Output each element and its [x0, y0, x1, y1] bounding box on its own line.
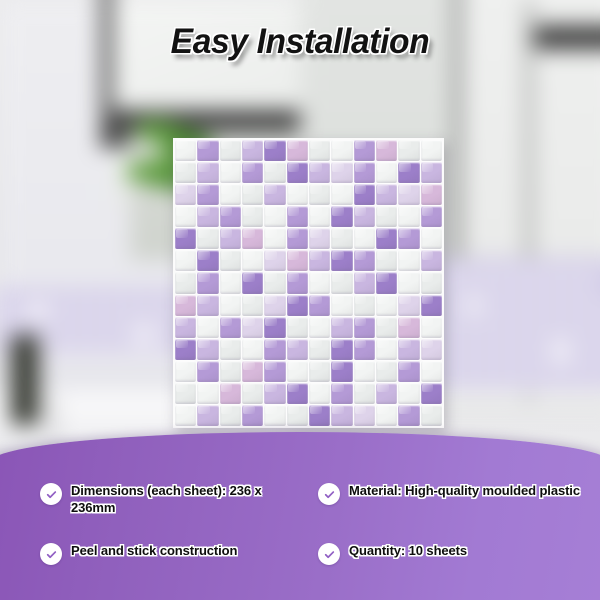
mosaic-tile — [197, 140, 218, 161]
mosaic-tile — [331, 162, 352, 183]
mosaic-tile — [354, 162, 375, 183]
mosaic-tile — [197, 228, 218, 249]
mosaic-tile — [398, 162, 419, 183]
mosaic-tile — [398, 228, 419, 249]
mosaic-tile — [331, 361, 352, 382]
mosaic-tile — [220, 140, 241, 161]
mosaic-tile — [421, 206, 442, 227]
mosaic-tile-sheet — [173, 138, 444, 428]
mosaic-tile — [287, 339, 308, 360]
feature-item-dimensions: Dimensions (each sheet): 236 x 236mm — [40, 482, 292, 517]
mosaic-tile — [287, 361, 308, 382]
mosaic-tile — [242, 140, 263, 161]
mosaic-tile — [354, 140, 375, 161]
mosaic-tile — [197, 206, 218, 227]
mosaic-tile — [376, 339, 397, 360]
feature-banner: Dimensions (each sheet): 236 x 236mm Pee… — [0, 432, 600, 600]
mosaic-tile — [264, 140, 285, 161]
mosaic-tile — [175, 272, 196, 293]
mosaic-tile — [242, 250, 263, 271]
mosaic-tile — [220, 162, 241, 183]
mosaic-tile — [242, 272, 263, 293]
mosaic-tile — [242, 405, 263, 426]
mosaic-tile — [287, 206, 308, 227]
feature-item-quantity: Quantity: 10 sheets — [318, 542, 583, 565]
mosaic-tile — [331, 184, 352, 205]
mosaic-tile — [421, 317, 442, 338]
mosaic-tile — [287, 140, 308, 161]
mosaic-tile — [309, 317, 330, 338]
mosaic-tile — [398, 383, 419, 404]
mosaic-tile — [376, 405, 397, 426]
mosaic-tile — [376, 361, 397, 382]
mosaic-tile — [175, 184, 196, 205]
mosaic-tile — [287, 184, 308, 205]
mosaic-tile — [220, 272, 241, 293]
feature-item-construction: Peel and stick construction — [40, 542, 292, 565]
mosaic-tile — [264, 295, 285, 316]
mosaic-tile — [175, 361, 196, 382]
mosaic-tile — [220, 295, 241, 316]
mosaic-tile — [309, 383, 330, 404]
mosaic-tile — [331, 295, 352, 316]
mosaic-tile — [220, 339, 241, 360]
mosaic-tile — [242, 361, 263, 382]
background-dispenser-bottle — [10, 335, 40, 425]
mosaic-tile — [264, 184, 285, 205]
mosaic-tile — [421, 140, 442, 161]
feature-label: Material: High-quality moulded plastic — [349, 482, 580, 499]
mosaic-tile — [175, 405, 196, 426]
mosaic-tile — [197, 162, 218, 183]
mosaic-tile — [354, 361, 375, 382]
mosaic-tile — [398, 250, 419, 271]
mosaic-tile — [421, 361, 442, 382]
mosaic-tile — [264, 339, 285, 360]
mosaic-tile — [175, 162, 196, 183]
mosaic-tile — [287, 250, 308, 271]
mosaic-tile — [197, 295, 218, 316]
mosaic-tile — [376, 162, 397, 183]
mosaic-tile — [264, 317, 285, 338]
mosaic-tile — [398, 184, 419, 205]
mosaic-tile — [309, 162, 330, 183]
mosaic-tile — [175, 317, 196, 338]
mosaic-tile — [287, 383, 308, 404]
mosaic-tile — [331, 339, 352, 360]
mosaic-tile — [197, 317, 218, 338]
mosaic-tile — [421, 228, 442, 249]
feature-banner-content: Dimensions (each sheet): 236 x 236mm Pee… — [0, 432, 600, 600]
background-backsplash-right — [430, 258, 600, 393]
mosaic-tile — [220, 228, 241, 249]
product-feature-poster: Easy Installation Dimensions (each sheet… — [0, 0, 600, 600]
mosaic-tile — [309, 250, 330, 271]
mosaic-tile — [376, 228, 397, 249]
mosaic-tile — [242, 206, 263, 227]
mosaic-tile — [197, 361, 218, 382]
mosaic-tile — [376, 206, 397, 227]
mosaic-tile — [376, 140, 397, 161]
mosaic-tile — [354, 206, 375, 227]
mosaic-tile — [376, 250, 397, 271]
mosaic-tile — [309, 361, 330, 382]
mosaic-tile — [242, 317, 263, 338]
mosaic-tile — [331, 272, 352, 293]
mosaic-tile — [220, 184, 241, 205]
mosaic-tile — [309, 272, 330, 293]
mosaic-tile — [421, 162, 442, 183]
mosaic-tile — [331, 405, 352, 426]
mosaic-tile — [309, 184, 330, 205]
mosaic-tile — [287, 317, 308, 338]
mosaic-tile — [287, 295, 308, 316]
mosaic-tile — [220, 383, 241, 404]
mosaic-tile — [309, 206, 330, 227]
mosaic-tile — [421, 272, 442, 293]
mosaic-tile — [220, 250, 241, 271]
mosaic-tile — [331, 206, 352, 227]
mosaic-tile — [398, 405, 419, 426]
mosaic-tile — [242, 184, 263, 205]
feature-label: Peel and stick construction — [71, 542, 237, 559]
mosaic-tile — [287, 162, 308, 183]
mosaic-tile — [220, 206, 241, 227]
mosaic-tile — [197, 383, 218, 404]
mosaic-tile — [398, 295, 419, 316]
mosaic-tile — [197, 250, 218, 271]
mosaic-tile — [242, 295, 263, 316]
mosaic-tile — [421, 405, 442, 426]
mosaic-tile — [354, 272, 375, 293]
mosaic-tile — [197, 405, 218, 426]
mosaic-tile — [242, 339, 263, 360]
mosaic-tile — [376, 295, 397, 316]
feature-label: Quantity: 10 sheets — [349, 542, 467, 559]
mosaic-tile — [175, 206, 196, 227]
mosaic-tile — [309, 140, 330, 161]
mosaic-tile — [264, 361, 285, 382]
mosaic-tile — [175, 250, 196, 271]
mosaic-tile — [242, 228, 263, 249]
check-circle-icon — [318, 483, 340, 505]
mosaic-tile — [376, 272, 397, 293]
mosaic-tile — [264, 272, 285, 293]
mosaic-tile — [264, 206, 285, 227]
mosaic-tile — [175, 228, 196, 249]
mosaic-tile — [197, 272, 218, 293]
mosaic-tile — [175, 339, 196, 360]
mosaic-tile — [331, 250, 352, 271]
mosaic-tile — [354, 184, 375, 205]
feature-label: Dimensions (each sheet): 236 x 236mm — [71, 482, 292, 517]
page-title: Easy Installation — [12, 22, 588, 62]
mosaic-tile — [309, 228, 330, 249]
mosaic-tile — [421, 184, 442, 205]
mosaic-tile — [331, 317, 352, 338]
mosaic-tile — [264, 228, 285, 249]
mosaic-tile — [354, 339, 375, 360]
mosaic-tile — [175, 383, 196, 404]
mosaic-tile — [264, 162, 285, 183]
mosaic-tile — [421, 250, 442, 271]
check-circle-icon — [40, 483, 62, 505]
mosaic-tile — [376, 383, 397, 404]
mosaic-tile — [197, 184, 218, 205]
mosaic-tile — [354, 405, 375, 426]
mosaic-tile — [220, 317, 241, 338]
mosaic-tile — [398, 361, 419, 382]
feature-item-material: Material: High-quality moulded plastic — [318, 482, 583, 505]
mosaic-tile — [175, 295, 196, 316]
mosaic-tile — [287, 228, 308, 249]
mosaic-tile — [242, 162, 263, 183]
mosaic-tile — [242, 383, 263, 404]
mosaic-tile — [354, 295, 375, 316]
mosaic-tile — [376, 317, 397, 338]
mosaic-tile — [264, 383, 285, 404]
mosaic-tile — [264, 250, 285, 271]
check-circle-icon — [40, 543, 62, 565]
mosaic-tile — [309, 339, 330, 360]
mosaic-tile — [354, 383, 375, 404]
mosaic-tile — [264, 405, 285, 426]
mosaic-tile — [331, 228, 352, 249]
mosaic-tile — [220, 361, 241, 382]
mosaic-tile — [376, 184, 397, 205]
mosaic-tile — [354, 228, 375, 249]
mosaic-tile — [287, 272, 308, 293]
mosaic-tile — [398, 140, 419, 161]
mosaic-tile — [398, 317, 419, 338]
mosaic-tile — [309, 295, 330, 316]
mosaic-tile — [309, 405, 330, 426]
mosaic-tile — [398, 272, 419, 293]
mosaic-tile — [398, 206, 419, 227]
mosaic-tile — [331, 383, 352, 404]
mosaic-tile — [331, 140, 352, 161]
mosaic-tile — [175, 140, 196, 161]
mosaic-tile — [220, 405, 241, 426]
mosaic-tile — [354, 250, 375, 271]
mosaic-tile — [354, 317, 375, 338]
mosaic-tile — [398, 339, 419, 360]
mosaic-tile — [421, 295, 442, 316]
mosaic-tile — [197, 339, 218, 360]
check-circle-icon — [318, 543, 340, 565]
mosaic-tile — [421, 339, 442, 360]
mosaic-tile — [287, 405, 308, 426]
mosaic-tile — [421, 383, 442, 404]
